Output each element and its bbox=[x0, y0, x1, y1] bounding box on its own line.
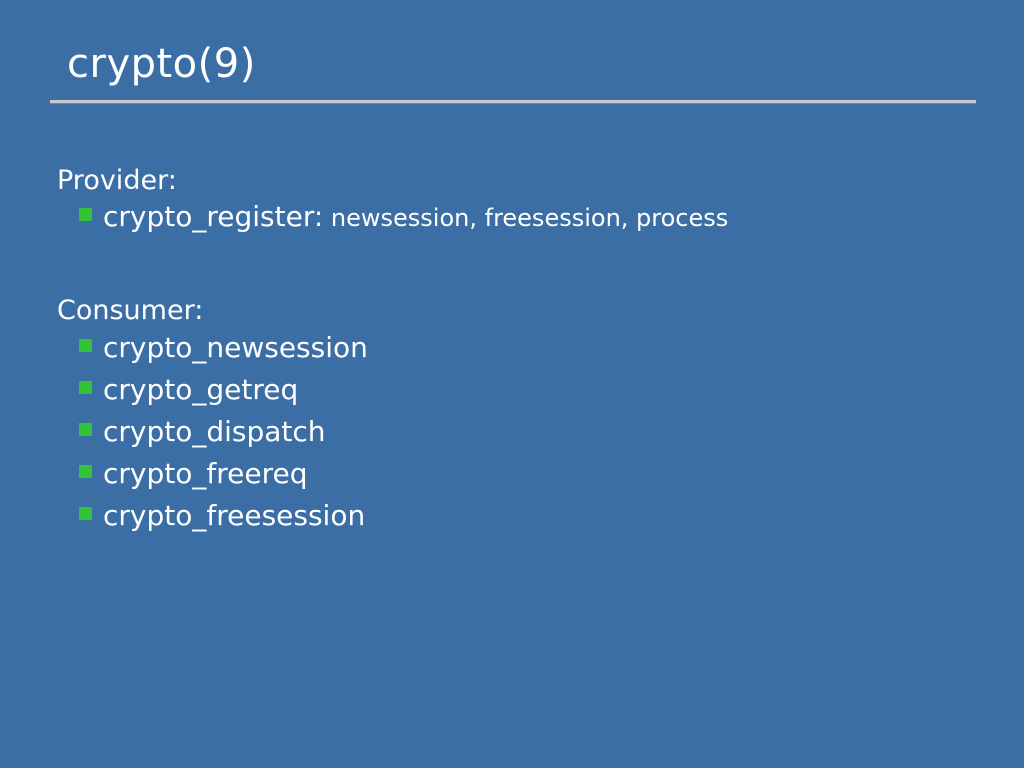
section-consumer: Consumer: crypto_newsession crypto_getre… bbox=[57, 293, 987, 543]
list-item-detail: newsession, freesession, process bbox=[323, 204, 728, 232]
list-item-label: crypto_register: bbox=[103, 200, 323, 233]
bullet-list-consumer: crypto_newsession crypto_getreq crypto_d… bbox=[57, 334, 987, 544]
list-item-text: crypto_register: newsession, freesession… bbox=[103, 203, 728, 231]
square-bullet-icon bbox=[79, 507, 92, 520]
list-item: crypto_register: newsession, freesession… bbox=[57, 203, 987, 245]
page-title: crypto(9) bbox=[50, 44, 976, 84]
square-bullet-icon bbox=[79, 339, 92, 352]
square-bullet-icon bbox=[79, 381, 92, 394]
list-item: crypto_freesession bbox=[57, 502, 987, 544]
square-bullet-icon bbox=[79, 208, 92, 221]
square-bullet-icon bbox=[79, 465, 92, 478]
list-item: crypto_dispatch bbox=[57, 418, 987, 460]
list-item-text: crypto_dispatch bbox=[103, 418, 326, 446]
section-provider: Provider: crypto_register: newsession, f… bbox=[57, 163, 987, 245]
slide-body: Provider: crypto_register: newsession, f… bbox=[57, 163, 987, 544]
list-item: crypto_freereq bbox=[57, 460, 987, 502]
list-item-text: crypto_freereq bbox=[103, 460, 307, 488]
square-bullet-icon bbox=[79, 423, 92, 436]
list-item-text: crypto_getreq bbox=[103, 376, 298, 404]
title-block: crypto(9) bbox=[50, 44, 976, 84]
list-item: crypto_getreq bbox=[57, 376, 987, 418]
slide: crypto(9) Provider: crypto_register: new… bbox=[0, 0, 1024, 768]
bullet-list-provider: crypto_register: newsession, freesession… bbox=[57, 203, 987, 245]
section-heading-consumer: Consumer: bbox=[57, 293, 987, 329]
list-item: crypto_newsession bbox=[57, 334, 987, 376]
list-item-text: crypto_newsession bbox=[103, 334, 368, 362]
section-heading-provider: Provider: bbox=[57, 163, 987, 199]
title-divider bbox=[50, 100, 976, 104]
list-item-text: crypto_freesession bbox=[103, 502, 365, 530]
